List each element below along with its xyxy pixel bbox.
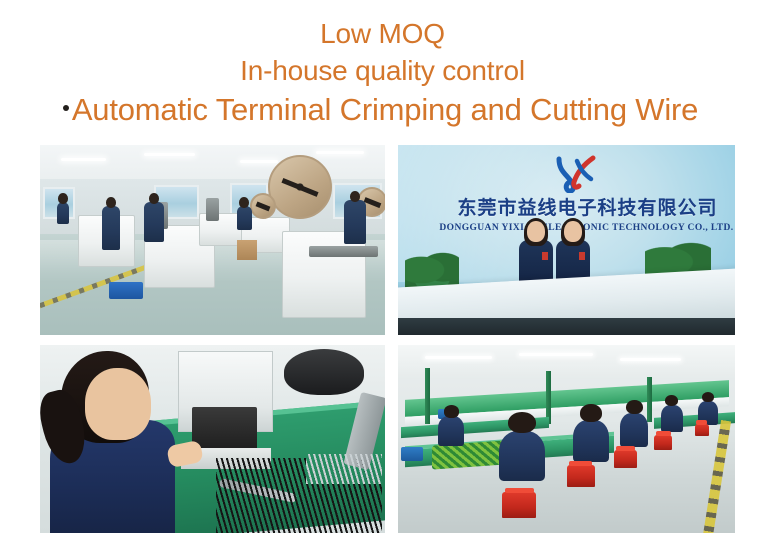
worker-head xyxy=(239,197,249,208)
bullet-point-icon xyxy=(63,105,69,111)
machine-worktop xyxy=(309,246,378,257)
staff-badge xyxy=(579,252,585,260)
worker xyxy=(573,420,609,462)
worker xyxy=(57,202,69,224)
worker-head xyxy=(580,404,602,422)
worker xyxy=(344,200,366,244)
floor-safety-line xyxy=(702,420,730,533)
heading-line-automatic-crimping-text: Automatic Terminal Crimping and Cutting … xyxy=(72,92,698,127)
worker-head xyxy=(702,392,714,402)
red-stool xyxy=(654,435,672,450)
worker-head xyxy=(58,193,68,204)
heading-line-low-moq: Low MOQ xyxy=(0,16,765,52)
press-head xyxy=(192,407,258,452)
yx-company-logo-icon xyxy=(553,155,599,193)
staff-head xyxy=(527,221,545,242)
worker-head xyxy=(665,395,678,406)
worker-head xyxy=(350,191,360,202)
red-stool xyxy=(567,465,595,487)
red-stool xyxy=(614,450,637,468)
staff-head xyxy=(564,221,582,242)
wire-reel xyxy=(268,155,332,219)
company-name-chinese: 东莞市益线电子科技有限公司 xyxy=(398,193,735,220)
ceiling-light xyxy=(144,153,196,156)
ceiling-light xyxy=(620,358,681,361)
shelf-upright xyxy=(647,377,652,422)
photo-assembly-line xyxy=(398,345,735,533)
worker-head xyxy=(626,400,643,414)
worker-head xyxy=(85,368,151,440)
ceiling-light xyxy=(240,160,278,163)
worker-head xyxy=(444,405,460,418)
red-stool xyxy=(502,492,536,518)
wire-stripped-tips xyxy=(306,454,382,484)
worker xyxy=(499,431,545,481)
worker xyxy=(102,206,120,250)
heading-block: Low MOQ In-house quality control Automat… xyxy=(0,16,765,130)
carton-box xyxy=(237,240,257,260)
worker-head xyxy=(508,412,536,433)
red-stool xyxy=(695,424,709,436)
machine-column xyxy=(206,198,220,221)
worker xyxy=(438,416,464,446)
parts-bin xyxy=(109,282,143,299)
ceiling-light xyxy=(425,356,492,359)
photo-quality-inspection xyxy=(40,345,385,533)
heading-line-quality-control: In-house quality control xyxy=(0,52,765,90)
worker-head xyxy=(106,197,116,208)
worker-head xyxy=(149,193,159,204)
task-lamp-shade xyxy=(284,349,364,395)
photo-company-reception: 东莞市益线电子科技有限公司 DONGGUAN YIXIAN ELECTRONIC… xyxy=(398,145,735,335)
wire-reel xyxy=(250,193,276,219)
worker xyxy=(620,413,648,447)
floor xyxy=(398,318,735,335)
slide-page: Low MOQ In-house quality control Automat… xyxy=(0,0,765,545)
photo-grid: 东莞市益线电子科技有限公司 DONGGUAN YIXIAN ELECTRONIC… xyxy=(40,145,735,533)
worker xyxy=(661,405,683,432)
ceiling-light xyxy=(316,151,364,154)
ceiling xyxy=(398,345,735,379)
heading-line-automatic-crimping: Automatic Terminal Crimping and Cutting … xyxy=(0,90,765,130)
staff-badge xyxy=(542,252,548,260)
photo-workshop-machines xyxy=(40,145,385,335)
ceiling-light xyxy=(61,158,106,161)
ceiling-light xyxy=(519,353,593,356)
parts-bin xyxy=(401,447,423,461)
shelf-upright xyxy=(425,368,430,424)
worker xyxy=(144,202,164,242)
worker xyxy=(237,206,252,230)
